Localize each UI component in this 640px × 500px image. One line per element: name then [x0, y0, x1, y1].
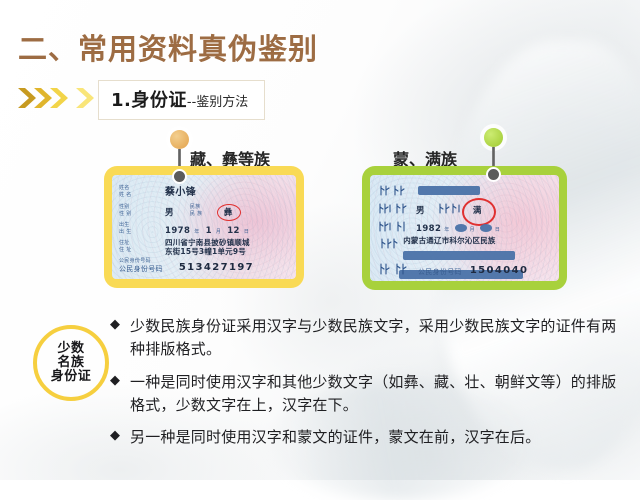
field-value-addr-line2-redacted-right: [403, 251, 515, 260]
mongolian-script-sex-icon: [377, 202, 411, 215]
mongolian-script-idnum-icon: [377, 262, 413, 276]
subtitle-sub-text: --鉴别方法: [187, 95, 248, 110]
diamond-bullet-icon: ◆: [110, 315, 123, 335]
badge-line-1: 少数: [57, 342, 84, 356]
field-value-birth-year-left: 1978: [165, 227, 190, 236]
pin-foot-left: [172, 169, 187, 184]
id-card-right-fields: 男 满: [370, 175, 559, 281]
id-card-left-face: 姓名 姓 名 蔡小锋 性别 性 别 男 民族 民 族: [112, 175, 296, 279]
id-card-left: 姓名 姓 名 蔡小锋 性别 性 别 男 民族 民 族: [104, 166, 304, 288]
field-label-sex-minor-left: 性别: [119, 205, 157, 210]
unit-day-left: 日: [244, 230, 249, 235]
bullet-text: 一种是同时使用汉字和其他少数文字（如彝、藏、壮、朝鲜文等）的排版格式，少数文字在…: [130, 371, 625, 418]
diamond-bullet-icon: ◆: [110, 426, 123, 446]
bullet-list: ◆ 少数民族身份证采用汉字与少数民族文字，采用少数民族文字的证件有两种排版格式。…: [110, 315, 625, 458]
mongolian-script-address-icon: [377, 237, 398, 250]
bullet-text: 少数民族身份证采用汉字与少数民族文字，采用少数民族文字的证件有两种排版格式。: [130, 315, 625, 362]
field-label-addr-left: 住 址: [119, 248, 157, 253]
field-value-addr-line1-left: 四川省宁南县披砂镇顺城: [165, 238, 250, 247]
field-value-birth-month-redacted-right: [455, 224, 467, 232]
field-value-addr-line2-left: 东街15号3幢1单元9号: [165, 247, 250, 256]
page-title: 二、常用资料真伪鉴别: [18, 26, 318, 68]
list-item: ◆ 另一种是同时使用汉字和蒙文的证件，蒙文在前，汉字在后。: [110, 426, 625, 449]
unit-month-right: 月: [470, 228, 475, 233]
field-label-sex-left: 性 别: [119, 212, 157, 217]
id-card-right-face: 男 满: [370, 175, 559, 281]
field-label-idnum-right: 公民身份号码: [418, 269, 462, 276]
bullet-text: 另一种是同时使用汉字和蒙文的证件，蒙文在前，汉字在后。: [130, 426, 540, 449]
field-label-name-minor-left: 姓名: [119, 186, 157, 191]
field-value-birth-day-redacted-right: [480, 224, 492, 232]
list-item: ◆ 一种是同时使用汉字和其他少数文字（如彝、藏、壮、朝鲜文等）的排版格式，少数文…: [110, 371, 625, 418]
field-label-idnum-minor-left: 公民身份号码: [119, 259, 163, 264]
field-label-addr-minor-left: 住址: [119, 241, 157, 246]
chevron-group: [16, 86, 102, 110]
field-value-name-left: 蔡小锋: [165, 188, 196, 198]
red-highlight-circle-left: [217, 204, 241, 221]
field-label-birth-minor-left: 出生: [119, 223, 157, 228]
field-label-idnum-left: 公民身份号码: [119, 266, 163, 273]
id-card-right: 男 满: [362, 166, 567, 290]
mongolian-script-name-icon: [377, 184, 411, 197]
field-value-idnum-left: 513427197: [179, 263, 254, 273]
subtitle-box: 1.身份证--鉴别方法: [98, 80, 265, 120]
unit-day-right: 日: [495, 228, 500, 233]
field-value-birth-day-left: 12: [227, 227, 240, 236]
chevron-right-icon-4: [74, 86, 96, 110]
id-card-left-fields: 姓名 姓 名 蔡小锋 性别 性 别 男 民族 民 族: [112, 175, 296, 279]
field-label-birth-left: 出 生: [119, 230, 157, 235]
pin-head-right: [484, 128, 503, 147]
field-value-idnum-right: 1504040: [470, 266, 529, 276]
field-value-name-redacted-right: [418, 186, 480, 195]
diamond-bullet-icon: ◆: [110, 371, 123, 391]
field-label-ethnic-minor-left: 民族: [190, 205, 218, 210]
list-item: ◆ 少数民族身份证采用汉字与少数民族文字，采用少数民族文字的证件有两种排版格式。: [110, 315, 625, 362]
pin-foot-right: [486, 167, 501, 182]
field-label-name-left: 姓 名: [119, 193, 157, 198]
unit-year-right: 年: [444, 228, 449, 233]
field-value-sex-right: 男: [416, 207, 425, 216]
field-value-addr-line1-right: 内蒙古通辽市科尔沁区民族: [403, 236, 551, 245]
pin-head-left: [170, 130, 189, 149]
chevron-right-icon-3: [48, 86, 70, 110]
field-value-birth-year-right: 1982: [416, 225, 441, 234]
mongolian-script-birth-icon: [377, 220, 411, 233]
mongolian-script-ethnic-icon: [437, 202, 465, 215]
status-badge: 少数 名族 身份证: [33, 325, 109, 401]
badge-line-2: 名族: [57, 356, 84, 370]
slide-canvas: 二、常用资料真伪鉴别 1.身份证--鉴别方法 藏、彝等族 蒙、满族 姓名: [0, 0, 640, 480]
unit-month-left: 月: [216, 230, 221, 235]
field-label-ethnic-left: 民 族: [190, 212, 218, 217]
subtitle-main-text: 1.身份证: [111, 90, 187, 111]
field-value-sex-left: 男: [165, 209, 174, 218]
badge-line-3: 身份证: [51, 370, 92, 384]
field-value-birth-month-left: 1: [206, 227, 212, 236]
unit-year-left: 年: [194, 230, 199, 235]
